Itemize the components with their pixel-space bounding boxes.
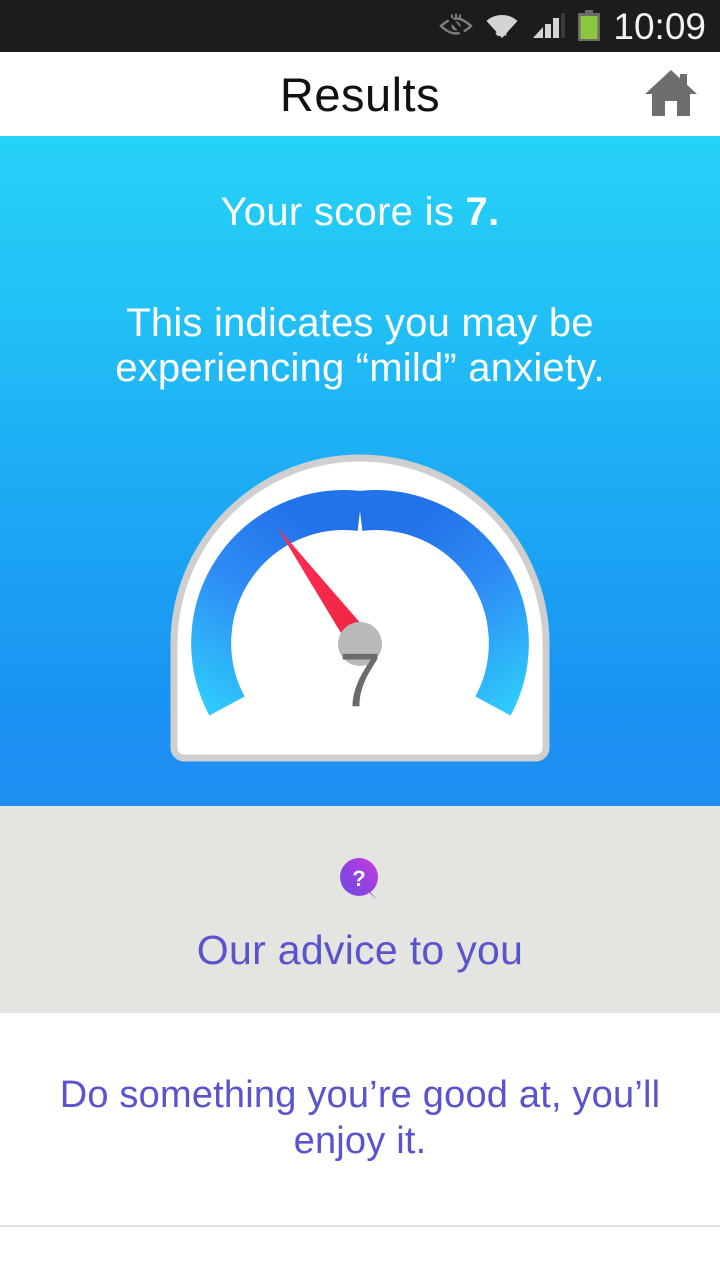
status-clock: 10:09: [613, 8, 706, 45]
title-bar: Results: [0, 52, 720, 136]
advice-body-text: Do something you’re good at, you’ll enjo…: [0, 1073, 720, 1164]
score-value: 7.: [466, 190, 500, 234]
gauge: 7: [164, 448, 556, 764]
battery-icon: [577, 10, 601, 42]
home-button[interactable]: [640, 63, 702, 125]
status-bar: 10:09: [0, 0, 720, 52]
question-bubble-icon: ?: [336, 856, 384, 904]
footer-space: [0, 1227, 720, 1280]
page-title: Results: [280, 71, 440, 118]
status-icons: [439, 9, 601, 43]
score-prefix: Your score is: [220, 190, 465, 234]
eye-icon: [439, 13, 473, 39]
signal-icon: [531, 11, 565, 41]
indicator-text: This indicates you may be experiencing “…: [0, 301, 720, 391]
wifi-icon: [485, 9, 519, 43]
gauge-svg: 7: [164, 448, 556, 764]
svg-text:?: ?: [352, 866, 365, 891]
home-icon: [643, 68, 699, 120]
app-screen: 10:09 Results Your score is 7. This indi…: [0, 0, 720, 1280]
advice-header[interactable]: ? Our advice to you: [0, 806, 720, 1013]
score-panel: Your score is 7. This indicates you may …: [0, 136, 720, 806]
advice-body: Do something you’re good at, you’ll enjo…: [0, 1013, 720, 1225]
score-line: Your score is 7.: [0, 192, 720, 232]
advice-header-label: Our advice to you: [197, 930, 523, 971]
gauge-value: 7: [339, 638, 381, 723]
